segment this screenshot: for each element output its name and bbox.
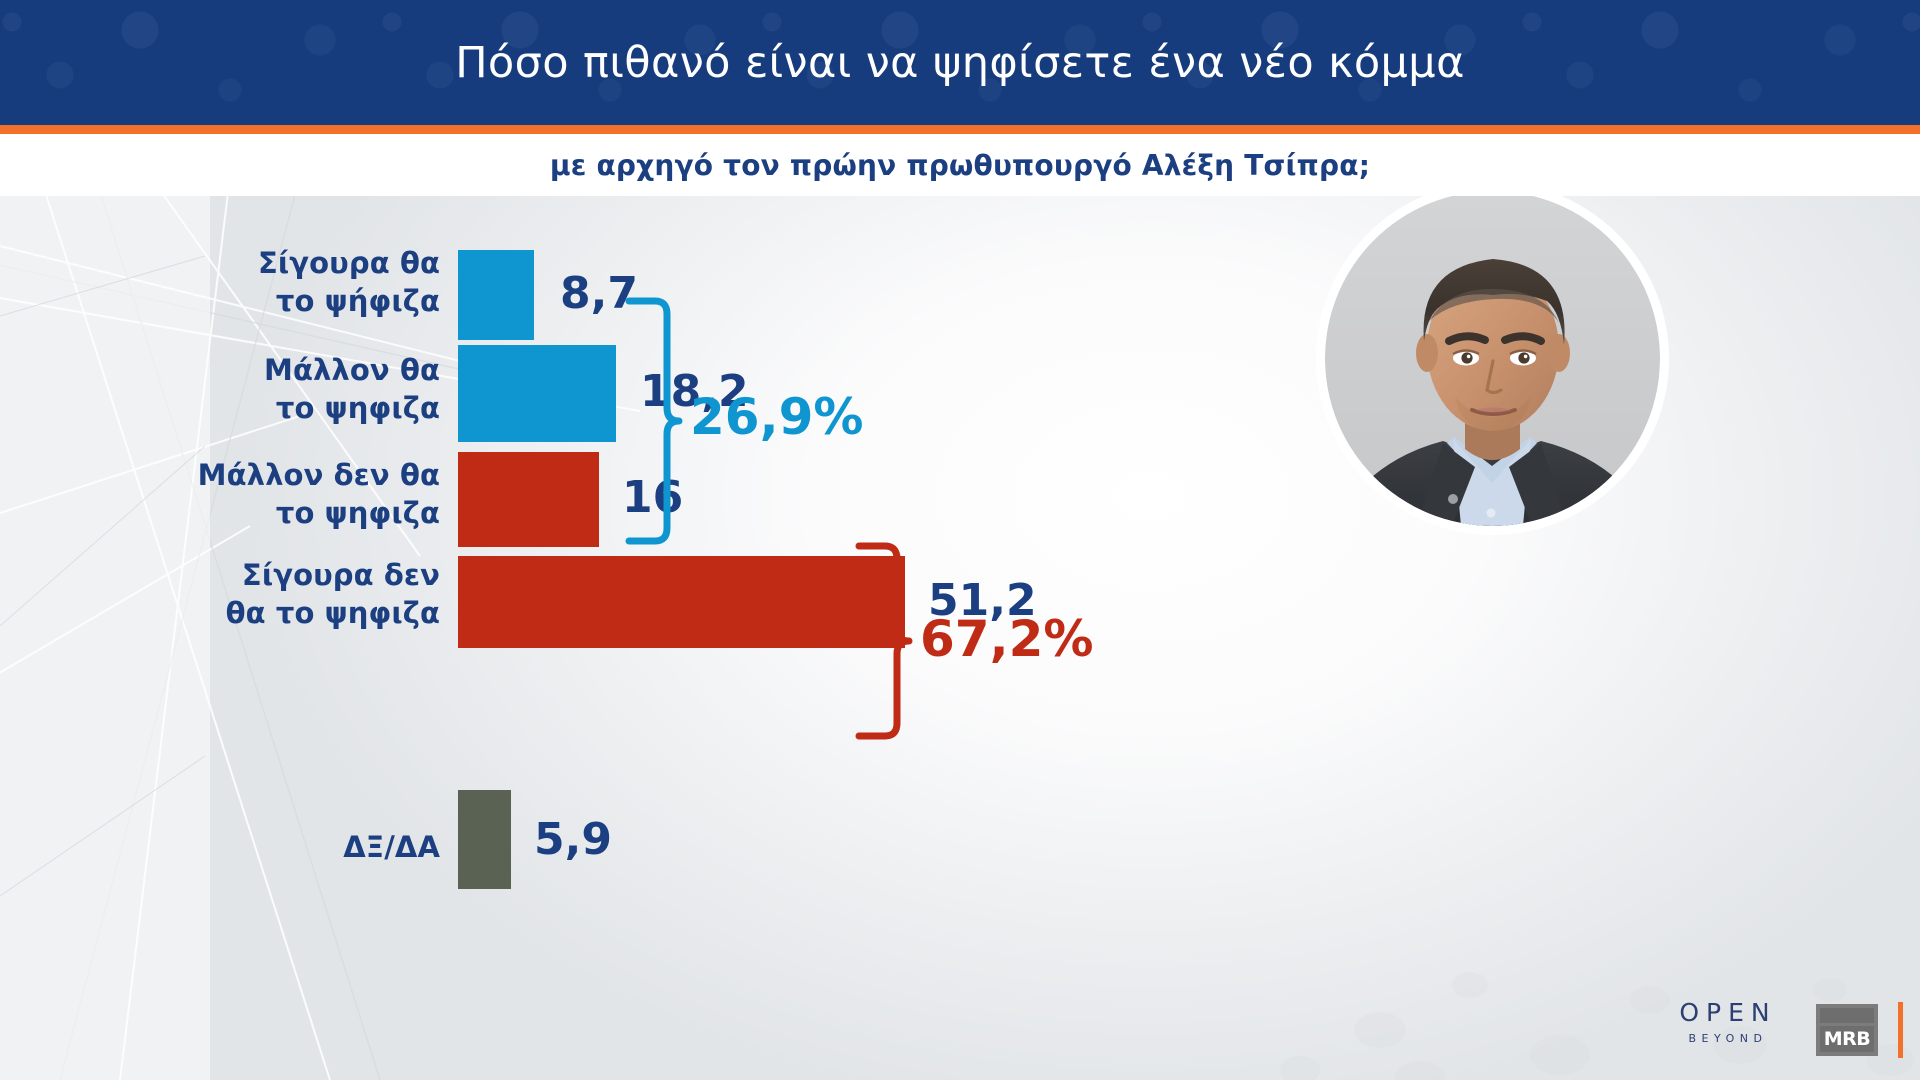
bar-label-1: Μάλλον θα το ψηφιζα [100, 351, 440, 427]
avatar [1325, 196, 1660, 526]
bar-label-2: Μάλλον δεν θα το ψηφιζα [60, 456, 440, 532]
subtitle-band: με αρχηγό τον πρώην πρωθυπουργό Αλέξη Τσ… [0, 134, 1920, 196]
bar-label-3-line2: θα το ψηφιζα [80, 594, 440, 632]
bar-1 [458, 345, 616, 442]
mrb-logo-bar [1820, 1008, 1874, 1023]
bar-label-4: ΔΞ/ΔΑ [120, 828, 440, 866]
header-accent-rule [0, 125, 1920, 134]
bar-label-0: Σίγουρα θα το ψήφιζα [100, 244, 440, 320]
page-subtitle: με αρχηγό τον πρώην πρωθυπουργό Αλέξη Τσ… [550, 149, 1370, 182]
bar-0 [458, 250, 534, 340]
bar-3 [458, 556, 905, 648]
bar-label-0-line1: Σίγουρα θα [100, 244, 440, 282]
bar-4 [458, 790, 511, 889]
chart-canvas: Σίγουρα θα το ψήφιζα 8,7 Μάλλον θα το ψη… [0, 196, 1920, 1080]
bar-label-0-line2: το ψήφιζα [100, 282, 440, 320]
portrait-illustration [1325, 196, 1660, 526]
bar-label-3: Σίγουρα δεν θα το ψηφιζα [80, 556, 440, 632]
mrb-logo-text: MRB [1820, 1026, 1874, 1052]
positive-bracket [625, 296, 685, 546]
bar-label-1-line2: το ψηφιζα [100, 389, 440, 427]
bar-value-4: 5,9 [534, 818, 612, 862]
positive-total-label: 26,9% [690, 392, 863, 442]
bar-label-2-line2: το ψηφιζα [60, 494, 440, 532]
negative-total-label: 67,2% [920, 614, 1093, 664]
mrb-logo: MRB [1816, 1004, 1878, 1056]
beyond-logo-text: BEYOND [1668, 1033, 1788, 1044]
negative-bracket [855, 541, 915, 741]
bar-2 [458, 452, 599, 547]
footer-accent-tick [1898, 1002, 1903, 1058]
page-title: Πόσο πιθανό είναι να ψηφίσετε ένα νέο κό… [0, 0, 1920, 125]
bar-label-3-line1: Σίγουρα δεν [80, 556, 440, 594]
bar-label-1-line1: Μάλλον θα [100, 351, 440, 389]
bar-label-2-line1: Μάλλον δεν θα [60, 456, 440, 494]
open-logo-text: OPEN [1668, 1000, 1788, 1025]
bar-label-4-line1: ΔΞ/ΔΑ [120, 828, 440, 866]
open-beyond-logo: OPEN BEYOND [1668, 1000, 1788, 1044]
poll-infographic: Πόσο πιθανό είναι να ψηφίσετε ένα νέο κό… [0, 0, 1920, 1080]
portrait-image [1325, 196, 1660, 526]
